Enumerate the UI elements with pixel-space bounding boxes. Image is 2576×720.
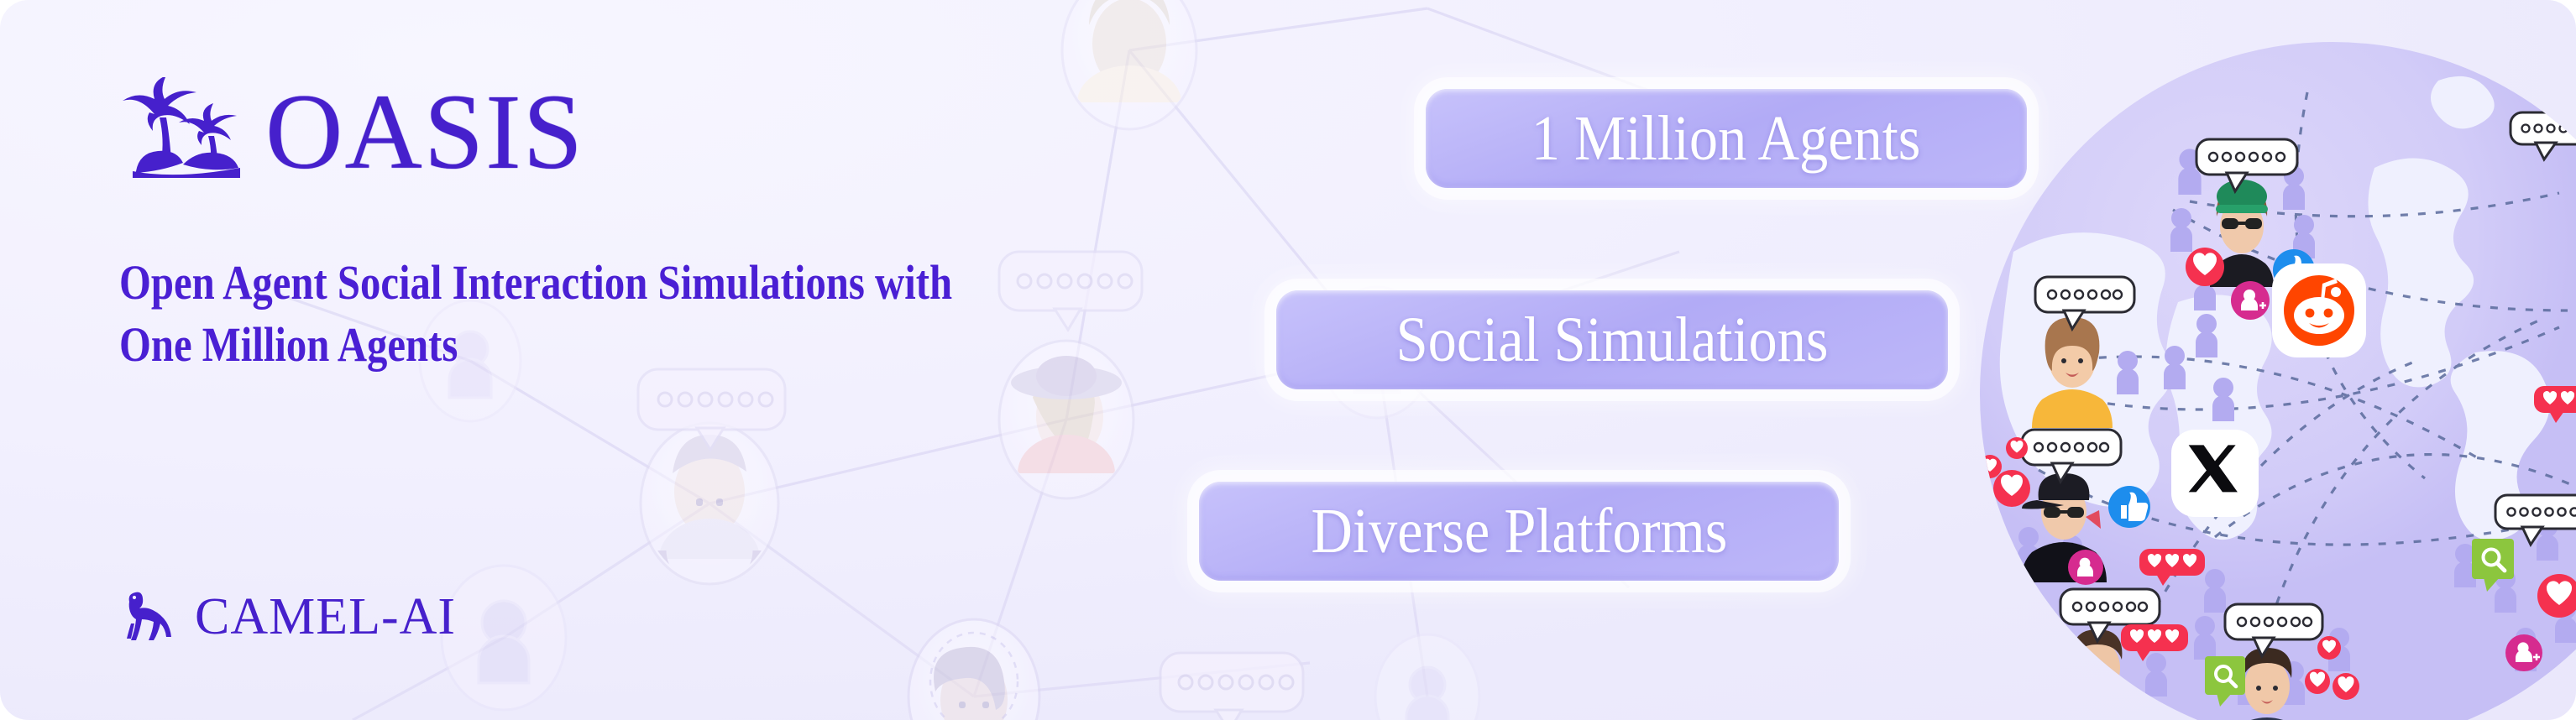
feature-pill-platforms[interactable]: Diverse Platforms xyxy=(1199,482,1839,581)
camel-ai-logo: CAMEL-AI xyxy=(119,587,456,647)
heart-icon xyxy=(2186,248,2224,286)
feature-pill-agents-label: 1 Million Agents xyxy=(1531,102,1921,175)
platform-icon-reddit xyxy=(2272,263,2366,357)
heart-icon xyxy=(2317,636,2341,660)
follow-user-icon xyxy=(2068,550,2103,585)
oasis-hero-banner: OASIS Open Agent Social Interaction Simu… xyxy=(0,0,2576,720)
heart-icon xyxy=(2333,673,2359,700)
oasis-logo: OASIS xyxy=(118,77,584,178)
heart-icon xyxy=(2305,669,2330,694)
tagline-line-2: One Million Agents xyxy=(119,314,1022,376)
follow-user-icon xyxy=(2231,281,2270,320)
palm-island-icon xyxy=(118,77,243,178)
social-globe-illustration xyxy=(1938,0,2576,720)
follow-user-icon xyxy=(2505,634,2542,671)
feature-pill-simulations-label: Social Simulations xyxy=(1396,304,1829,377)
platform-icon-x xyxy=(2171,430,2259,517)
heart-icon xyxy=(2006,437,2028,459)
feature-pill-agents[interactable]: 1 Million Agents xyxy=(1426,89,2027,188)
tagline-line-1: Open Agent Social Interaction Simulation… xyxy=(119,252,1022,314)
camel-ai-wordmark: CAMEL-AI xyxy=(195,587,456,647)
thumbs-up-icon xyxy=(2108,486,2150,528)
heart-icon xyxy=(1978,455,2002,478)
feature-pill-simulations[interactable]: Social Simulations xyxy=(1276,290,1948,389)
oasis-wordmark: OASIS xyxy=(265,86,584,178)
heart-icon xyxy=(2030,628,2071,668)
oasis-tagline: Open Agent Social Interaction Simulation… xyxy=(119,252,1022,376)
camel-icon xyxy=(119,590,180,645)
heart-icon xyxy=(1993,470,2030,507)
feature-pill-platforms-label: Diverse Platforms xyxy=(1311,495,1727,568)
